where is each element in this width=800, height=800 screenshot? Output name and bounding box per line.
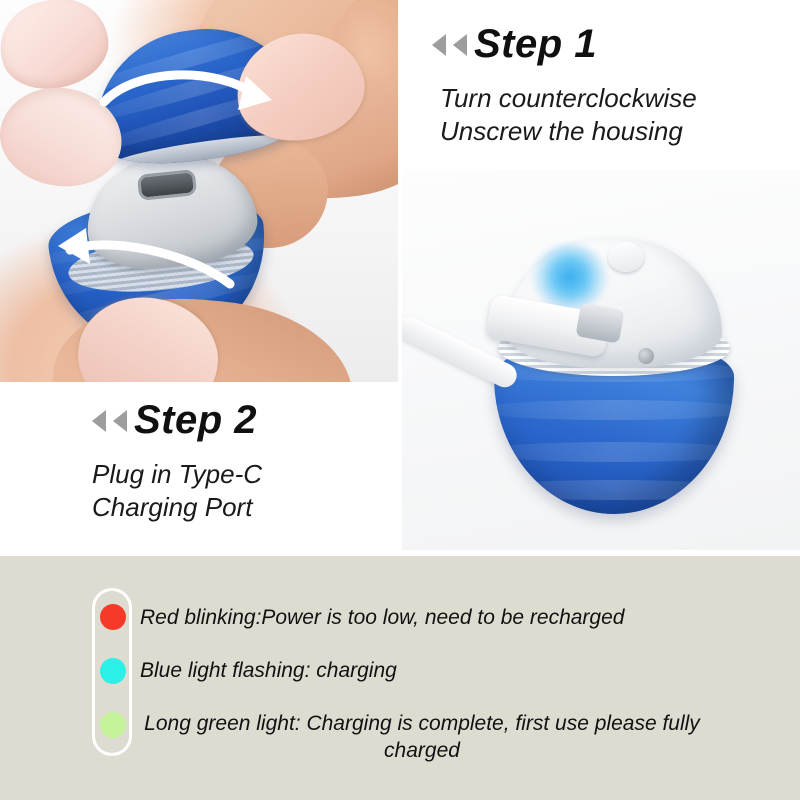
counterclockwise-arrow-icon	[48, 222, 238, 294]
legend-item-blue: Blue light flashing: charging	[140, 657, 397, 684]
legend-item-red: Red blinking:Power is too low, need to b…	[140, 604, 624, 631]
left-triangle-icon	[453, 34, 467, 56]
left-triangle-icon	[92, 410, 106, 432]
step-2-title: Step 2	[134, 398, 257, 443]
step-1-title: Step 1	[474, 22, 597, 67]
step-1-heading: Step 1	[432, 22, 597, 67]
step-2-heading: Step 2	[92, 398, 257, 443]
left-triangle-icon	[432, 34, 446, 56]
step-1-body: Turn counterclockwise Unscrew the housin…	[440, 82, 697, 148]
blue-led-glow-icon	[532, 244, 608, 310]
red-led-icon	[100, 604, 126, 630]
legend-item-green: Long green light: Charging is complete, …	[132, 710, 712, 764]
top-button-nub	[608, 242, 644, 272]
ball-with-usb-c-cable-photo	[402, 170, 800, 550]
usb-c-plug-tip	[575, 302, 624, 343]
green-led-icon	[100, 712, 126, 738]
hands-unscrewing-blue-ball-photo	[0, 0, 398, 382]
product-instruction-page: Step 1 Turn counterclockwise Unscrew the…	[0, 0, 800, 800]
blue-led-icon	[100, 658, 126, 684]
screw-icon	[638, 348, 654, 364]
step-2-body: Plug in Type-C Charging Port	[92, 458, 262, 524]
clockwise-arrow-icon	[96, 62, 286, 132]
left-triangle-icon	[113, 410, 127, 432]
